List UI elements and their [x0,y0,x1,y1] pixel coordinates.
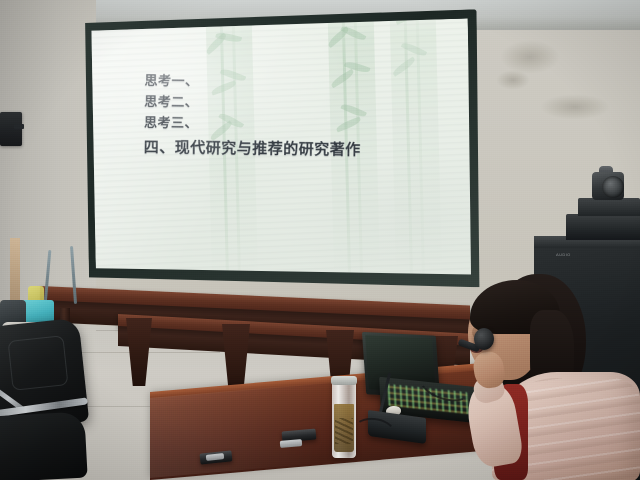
screenshot-root: 思考一、 思考二、 思考三、 四、现代研究与推荐的研究著作 [0,0,640,480]
camera-lens-icon [602,176,624,198]
slide-line-3: 思考三、 [144,113,444,138]
cabinet-stack-upper [578,198,640,216]
beige-board [10,238,20,306]
chair-stitching [8,335,69,391]
office-chair-seat[interactable] [0,412,88,480]
cabinet-stack-middle [566,214,640,240]
tea-leaves [335,418,353,444]
wall-speaker-bracket [14,124,24,129]
slide-line-4: 四、现代研究与推荐的研究著作 [144,135,444,163]
handheld-microphone-head[interactable] [474,328,494,350]
projection-screen: 思考一、 思考二、 思考三、 四、现代研究与推荐的研究著作 [83,9,484,297]
wall-speaker [0,112,22,146]
screen-surface: 思考一、 思考二、 思考三、 四、现代研究与推荐的研究著作 [90,18,474,283]
tea-glass-lid [331,376,357,385]
slide-text-block: 思考一、 思考二、 思考三、 四、现代研究与推荐的研究著作 [144,71,445,163]
cabinet-label: AUDIO [556,252,571,257]
presenter [452,258,640,480]
